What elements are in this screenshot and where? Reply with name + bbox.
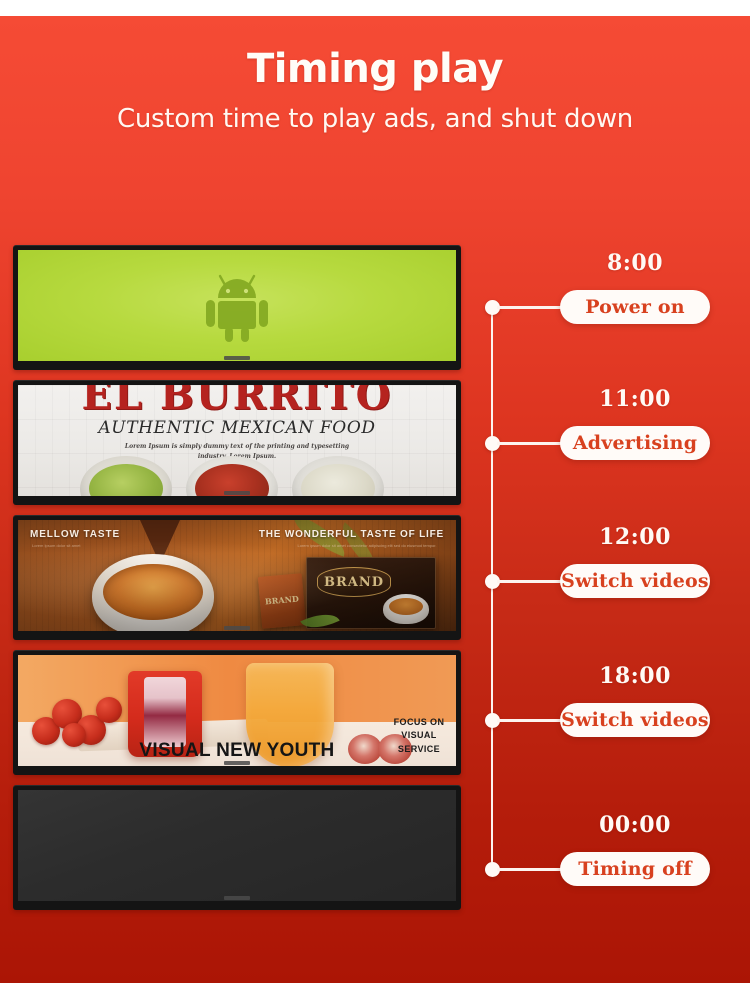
timeline-connector [497, 719, 562, 722]
mexican-food-ad-panel: EL BURRITO AUTHENTIC MEXICAN FOOD Lorem … [18, 385, 456, 496]
timeline-action-label: Switch videos [561, 709, 709, 731]
page-title: Timing play [0, 46, 750, 92]
timeline-action-pill[interactable]: Switch videos [560, 703, 710, 737]
timeline-action-pill[interactable]: Switch videos [560, 564, 710, 598]
tea-headline-left: MELLOW TASTE [30, 529, 120, 540]
android-boot-panel [18, 250, 456, 361]
screen-brand-mark [224, 896, 250, 900]
display-screen-android-boot [13, 245, 461, 370]
cream-bowl [292, 456, 384, 496]
bottle-label [144, 677, 186, 747]
juice-ad-panel: VISUAL NEW YOUTH FOCUS ON VISUAL SERVICE [18, 655, 456, 766]
screen-brand-mark [224, 626, 250, 630]
timeline-action-label: Power on [585, 296, 685, 318]
timeline-action-label: Timing off [578, 858, 691, 880]
display-screen-powered-off [13, 785, 461, 910]
timeline-action-pill[interactable]: Advertising [560, 426, 710, 460]
tea-body-left: Lorem Ipsum dolor sit amet [32, 542, 162, 550]
tea-body-right: Lorem ipsum dolor sit amet consectetur a… [292, 542, 442, 550]
powered-off-panel [18, 790, 456, 901]
burrito-logo-text: EL BURRITO [18, 385, 456, 419]
timeline-action-pill[interactable]: Timing off [560, 852, 710, 886]
timeline-action-pill[interactable]: Power on [560, 290, 710, 324]
timeline-connector [497, 306, 562, 309]
timeline-time-label: 8:00 [560, 250, 710, 276]
display-screen-tea-ad: BRAND BRAND MELLOW TASTE Lorem Ipsum dol… [13, 515, 461, 640]
timeline-time-label: 12:00 [560, 524, 710, 550]
salsa-bowl [186, 456, 278, 496]
display-screen-juice-ad: VISUAL NEW YOUTH FOCUS ON VISUAL SERVICE [13, 650, 461, 775]
display-screen-mexican-food-ad: EL BURRITO AUTHENTIC MEXICAN FOOD Lorem … [13, 380, 461, 505]
screen-brand-mark [224, 761, 250, 765]
burrito-headline: AUTHENTIC MEXICAN FOOD [18, 418, 456, 438]
timeline-action-label: Advertising [573, 432, 697, 454]
timeline-time-label: 11:00 [560, 386, 710, 412]
timeline-action-label: Switch videos [561, 570, 709, 592]
timeline-connector [497, 442, 562, 445]
timeline-connector [497, 580, 562, 583]
screen-brand-mark [224, 491, 250, 495]
jujube-fruit [96, 697, 122, 723]
guacamole-bowl [80, 456, 172, 496]
juice-side-text: FOCUS ON VISUAL SERVICE [387, 716, 451, 757]
display-screen-stack: EL BURRITO AUTHENTIC MEXICAN FOOD Lorem … [13, 245, 461, 910]
tea-ad-panel: BRAND BRAND MELLOW TASTE Lorem Ipsum dol… [18, 520, 456, 631]
android-robot-icon [194, 270, 280, 342]
schedule-timeline: 8:00 Power on 11:00 Advertising 12:00 Sw… [461, 245, 750, 935]
page-subtitle: Custom time to play ads, and shut down [0, 104, 750, 134]
timeline-time-label: 18:00 [560, 663, 710, 689]
tea-headline-right: THE WONDERFUL TASTE OF LIFE [259, 529, 444, 540]
timeline-time-label: 00:00 [560, 812, 710, 838]
poster-page: Timing play Custom time to play ads, and… [0, 0, 750, 983]
page-header: Timing play Custom time to play ads, and… [0, 46, 750, 134]
food-bowls-group [18, 456, 456, 496]
screen-brand-mark [224, 356, 250, 360]
timeline-connector [497, 868, 562, 871]
